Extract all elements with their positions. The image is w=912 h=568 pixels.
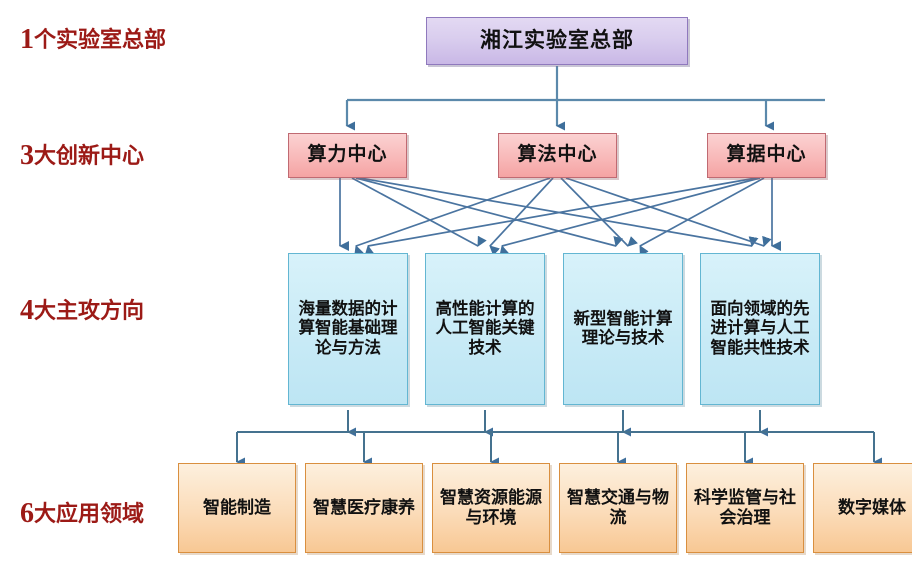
tier-number-1: 1 — [20, 24, 34, 55]
node-center-computing-power[interactable]: 算力中心 — [288, 133, 407, 178]
node-center-algorithm[interactable]: 算法中心 — [498, 133, 617, 178]
tier-label-applications: 6大应用领域 — [20, 500, 144, 528]
node-direction-domain-advanced-computing[interactable]: 面向领域的先进计算与人工智能共性技术 — [700, 253, 820, 405]
tier-text-4: 大主攻方向 — [34, 298, 144, 323]
node-application-smart-manufacturing[interactable]: 智能制造 — [178, 463, 296, 553]
node-direction-hpc-ai[interactable]: 高性能计算的人工智能关键技术 — [425, 253, 545, 405]
node-headquarters[interactable]: 湘江实验室总部 — [426, 17, 688, 65]
tier-text-1: 个实验室总部 — [34, 27, 166, 52]
tier-number-3: 3 — [20, 140, 34, 171]
node-application-smart-healthcare[interactable]: 智慧医疗康养 — [305, 463, 423, 553]
node-application-transport-logistics[interactable]: 智慧交通与物流 — [559, 463, 677, 553]
node-application-resources-energy-environment[interactable]: 智慧资源能源与环境 — [432, 463, 550, 553]
node-direction-massive-data[interactable]: 海量数据的计算智能基础理论与方法 — [288, 253, 408, 405]
tier-label-hq: 1个实验室总部 — [20, 26, 166, 54]
hq-to-centers-connector — [347, 66, 825, 126]
tier-number-6: 6 — [20, 498, 34, 529]
tier-number-4: 4 — [20, 295, 34, 326]
centers-to-directions-mesh — [340, 178, 772, 246]
tier-label-directions: 4大主攻方向 — [20, 297, 144, 325]
tier-text-3: 大创新中心 — [34, 143, 144, 168]
node-center-data[interactable]: 算据中心 — [707, 133, 826, 178]
node-application-digital-media[interactable]: 数字媒体 — [813, 463, 912, 553]
tier-label-centers: 3大创新中心 — [20, 142, 144, 170]
diagram-canvas: 1个实验室总部 3大创新中心 4大主攻方向 6大应用领域 湘江实验室总部 算力中… — [0, 0, 912, 568]
node-direction-new-intelligent-computing[interactable]: 新型智能计算理论与技术 — [563, 253, 683, 405]
tier-text-6: 大应用领域 — [34, 501, 144, 526]
node-application-scientific-regulation-governance[interactable]: 科学监管与社会治理 — [686, 463, 804, 553]
directions-to-applications-connector — [237, 410, 874, 462]
